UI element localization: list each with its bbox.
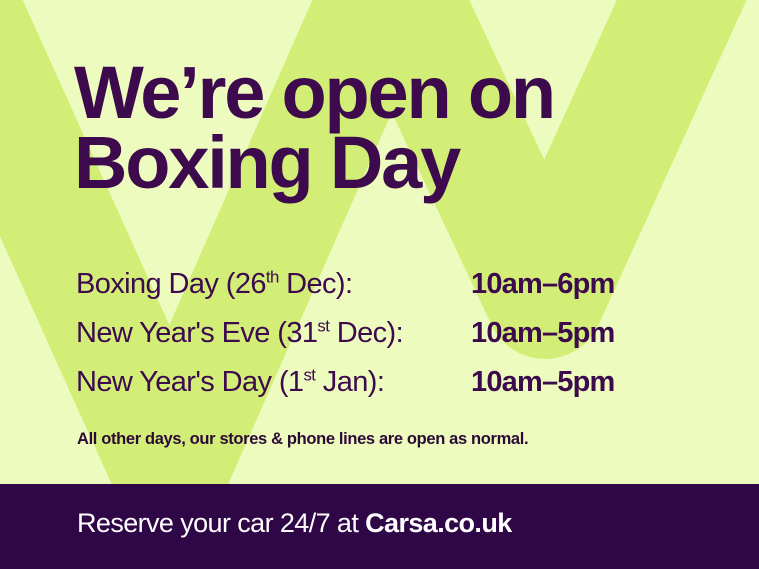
opening-hours-table: Boxing Day (26th Dec): 10am–6pm New Year… (76, 268, 716, 415)
table-row: Boxing Day (26th Dec): 10am–6pm (76, 268, 716, 317)
hours-day-label: Boxing Day (26th Dec): (76, 268, 471, 301)
ordinal-suffix: th (266, 267, 279, 286)
hours-time-value: 10am–5pm (471, 366, 615, 399)
ordinal-suffix: st (317, 316, 329, 335)
brand-website-link[interactable]: Carsa.co.uk (365, 508, 511, 538)
cta-prefix-text: Reserve your car 24/7 at (77, 508, 365, 538)
cta-message: Reserve your car 24/7 at Carsa.co.uk (77, 508, 512, 539)
hours-day-suffix: Dec): (279, 268, 353, 300)
cta-banner: Reserve your car 24/7 at Carsa.co.uk (0, 484, 759, 569)
hours-time-value: 10am–5pm (471, 317, 615, 350)
hours-day-suffix: Dec): (329, 317, 403, 349)
page-title: We’re open on Boxing Day (74, 58, 714, 197)
table-row: New Year's Day (1st Jan): 10am–5pm (76, 366, 716, 415)
hours-day-text: New Year's Eve (31 (76, 317, 317, 349)
ordinal-suffix: st (303, 365, 315, 384)
poster-content: We’re open on Boxing Day Boxing Day (26t… (0, 0, 759, 569)
table-row: New Year's Eve (31st Dec): 10am–5pm (76, 317, 716, 366)
fineprint-note: All other days, our stores & phone lines… (77, 430, 528, 449)
hours-day-label: New Year's Day (1st Jan): (76, 366, 471, 399)
promo-poster: We’re open on Boxing Day Boxing Day (26t… (0, 0, 759, 569)
hours-day-text: New Year's Day (1 (76, 366, 303, 398)
hours-time-value: 10am–6pm (471, 268, 615, 301)
hours-day-suffix: Jan): (315, 366, 384, 398)
hours-day-label: New Year's Eve (31st Dec): (76, 317, 471, 350)
hours-day-text: Boxing Day (26 (76, 268, 266, 300)
